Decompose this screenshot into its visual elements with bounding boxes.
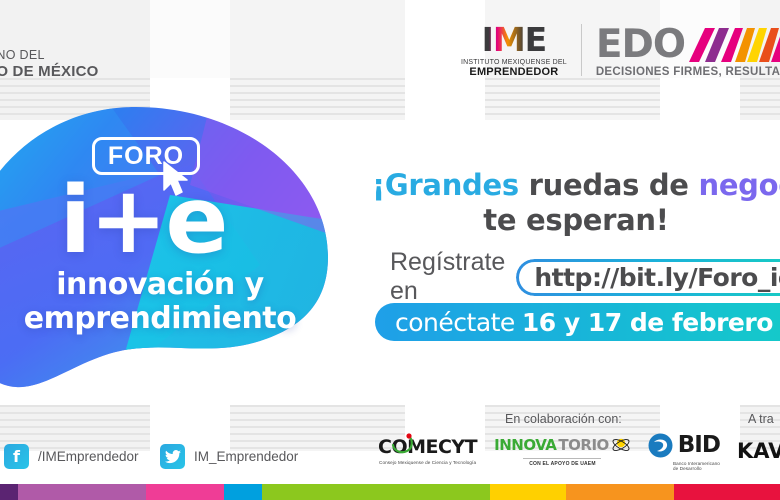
innovatorio-footnote: CON EL APOYO DE UAEM: [529, 461, 596, 467]
headline-line2: te esperan!: [372, 203, 780, 238]
sponsor-innovatorio: INNOVA TORIO CON EL APOYO DE UAEM: [494, 435, 631, 467]
edomex-logo: EDO DECISIONES FIRMES, RESULTADOS: [596, 22, 780, 78]
sponsor-bid: BID Banco Interamericano de Desarrollo: [648, 432, 720, 471]
edomex-wordmark-gray: EDO: [596, 27, 685, 62]
date-value: 16 y 17 de febrero de 20: [522, 308, 780, 337]
strip-segment: [224, 484, 262, 500]
twitter-handle: IM_Emprendedor: [194, 449, 298, 464]
edomex-chevrons-icon: [685, 22, 780, 62]
ime-subtitle-line2: EMPRENDEDOR: [461, 66, 567, 78]
edomex-tagline: DECISIONES FIRMES, RESULTADOS: [596, 66, 780, 78]
kavak-wordmark: KAVAK: [737, 439, 780, 463]
bid-wordmark: BID: [648, 432, 720, 458]
government-line2: TADO DE MÉXICO: [0, 63, 99, 80]
twitter-icon: [160, 444, 185, 469]
collaboration-label: En colaboración con:: [505, 412, 622, 426]
background-mask: [660, 78, 740, 120]
innovatorio-name-green: INNOVA: [494, 436, 556, 454]
bid-text: BID: [678, 432, 720, 458]
bid-subtitle-line1: Banco Interamericano: [673, 461, 720, 466]
facebook-icon: f: [4, 444, 29, 469]
headline-line1: ¡Grandes ruedas de negocios: [372, 168, 780, 203]
innovatorio-rule: [523, 458, 601, 459]
comecyt-swirl-icon: [389, 432, 415, 456]
event-date-pill: conéctate 16 y 17 de febrero de 20: [375, 303, 780, 341]
sponsor-kavak: KAVAK: [737, 439, 780, 463]
institutional-logos: IME INSTITUTO MEXIQUENSE DEL EMPRENDEDOR…: [461, 22, 780, 78]
headline-word-grandes: ¡Grandes: [372, 168, 519, 202]
social-facebook[interactable]: f /IMEmprendedor: [4, 444, 139, 469]
government-wordmark: BIERNO DEL TADO DE MÉXICO: [0, 48, 99, 80]
register-row: Regístrate en http://bit.ly/Foro_ie: [390, 248, 780, 306]
strip-segment: [674, 484, 780, 500]
innovatorio-wordmark: INNOVA TORIO: [494, 435, 631, 455]
registration-url-pill[interactable]: http://bit.ly/Foro_ie: [516, 259, 780, 296]
innovatorio-name-gray: TORIO: [558, 436, 608, 454]
headline-word-negocios: negocios: [698, 168, 780, 202]
strip-segment: [490, 484, 566, 500]
headline-word-ruedas: ruedas de: [529, 168, 689, 202]
edomex-wordmark: EDO: [596, 22, 780, 62]
government-line1: BIERNO DEL: [0, 48, 99, 62]
bid-bird-icon: [648, 433, 673, 458]
atom-icon: [611, 435, 631, 455]
bottom-color-strip: [0, 484, 780, 500]
strip-segment: [566, 484, 674, 500]
register-label: Regístrate en: [390, 248, 505, 306]
event-subtitle: innovación y emprendimiento: [0, 268, 320, 335]
strip-segment: [262, 484, 490, 500]
event-subtitle-line2: emprendimiento: [0, 302, 320, 336]
ime-subtitle-line1: INSTITUTO MEXIQUENSE DEL: [461, 59, 567, 66]
ime-logo: IME INSTITUTO MEXIQUENSE DEL EMPRENDEDOR: [461, 23, 567, 78]
promotional-banner: FORO i+e innovación y emprendimiento BIE…: [0, 0, 780, 500]
comecyt-subtitle: Consejo Mexiquense de Ciencia y Tecnolog…: [379, 460, 476, 465]
facebook-handle: /IMEmprendedor: [38, 449, 139, 464]
logo-divider: [581, 24, 582, 76]
date-prefix: conéctate: [395, 308, 515, 337]
sponsor-comecyt: COMECYT Consejo Mexiquense de Ciencia y …: [378, 438, 477, 465]
ime-wordmark: IME: [461, 23, 567, 56]
headline: ¡Grandes ruedas de negocios te esperan!: [372, 168, 780, 239]
strip-segment: [18, 484, 146, 500]
strip-segment: [0, 484, 18, 500]
registration-url-text: http://bit.ly/Foro_ie: [534, 263, 780, 292]
event-title: i+e: [18, 178, 268, 264]
event-subtitle-line1: innovación y: [0, 268, 320, 302]
strip-segment: [146, 484, 224, 500]
sponsor-logos: COMECYT Consejo Mexiquense de Ciencia y …: [378, 432, 780, 471]
background-mask: [405, 78, 485, 120]
bid-subtitle-line2: de Desarrollo: [673, 466, 720, 471]
social-twitter[interactable]: IM_Emprendedor: [160, 444, 298, 469]
through-label: A tra: [748, 412, 774, 426]
